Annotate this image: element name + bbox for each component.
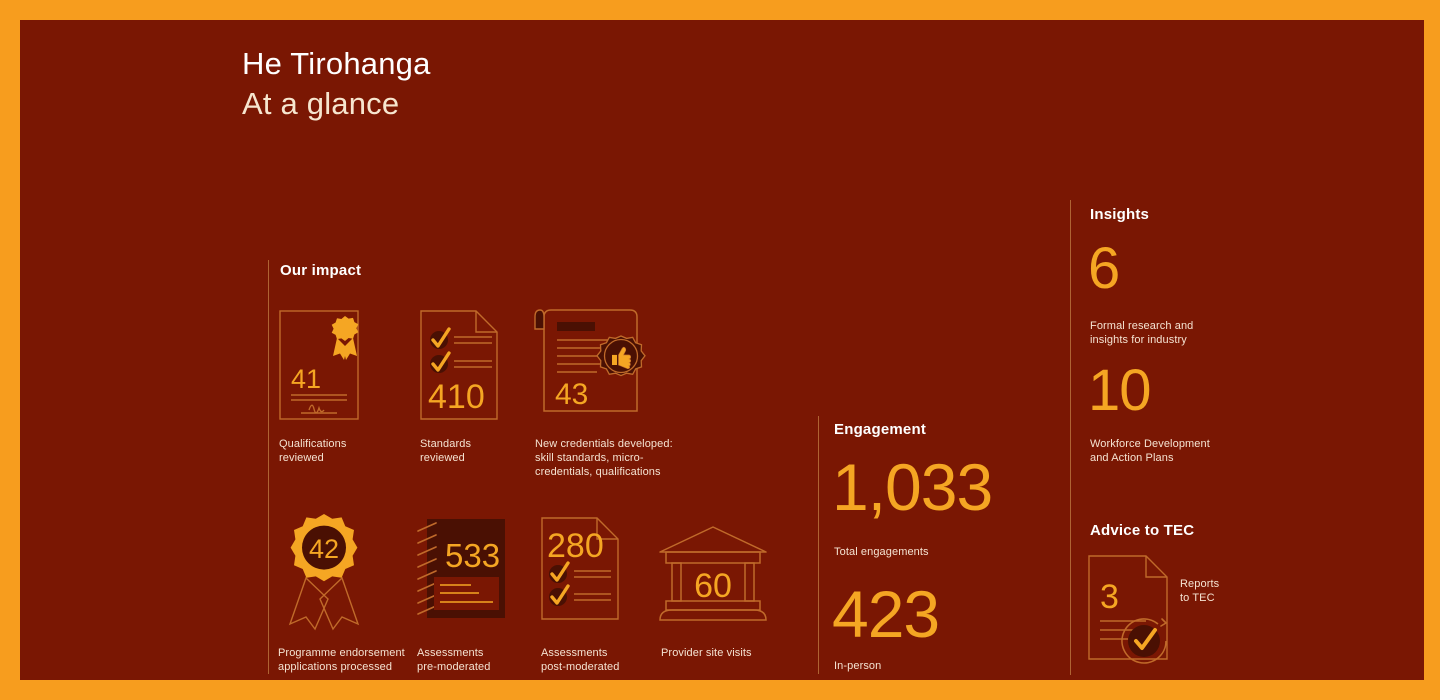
engagement-value-inperson: 423 [832, 585, 939, 644]
poster-frame: He Tirohanga At a glance Our impact 41 Q… [20, 20, 1424, 680]
insights-heading: Insights [1090, 206, 1149, 223]
insights-value-plans: 10 [1088, 365, 1151, 417]
impact-caption-premoderated: Assessments pre-moderated [417, 646, 490, 674]
impact-divider [268, 260, 269, 674]
impact-caption-site-visits: Provider site visits [661, 646, 752, 660]
advice-tile-reports: 3 [1088, 555, 1180, 667]
impact-tile-site-visits: 60 [654, 525, 772, 622]
award-ribbon-icon: 42 [278, 512, 374, 630]
impact-caption-qualifications: Qualifications reviewed [279, 437, 346, 465]
engagement-caption-inperson: In-person [834, 659, 881, 673]
svg-text:41: 41 [291, 364, 321, 394]
svg-text:3: 3 [1100, 578, 1119, 616]
advice-caption-reports: Reports to TEC [1180, 577, 1219, 605]
svg-text:42: 42 [309, 534, 339, 564]
impact-tile-qualifications: 41 [279, 310, 359, 420]
impact-caption-standards: Standards reviewed [420, 437, 471, 465]
impact-caption-credentials: New credentials developed: skill standar… [535, 437, 673, 479]
svg-text:60: 60 [694, 567, 732, 605]
page-title: He Tirohanga At a glance [242, 44, 431, 124]
svg-text:533: 533 [445, 537, 500, 574]
advice-heading: Advice to TEC [1090, 522, 1194, 539]
insights-divider [1070, 200, 1071, 675]
insights-value-research: 6 [1088, 243, 1119, 295]
impact-heading: Our impact [280, 262, 361, 279]
impact-tile-postmoderated: 280 [541, 517, 619, 620]
impact-tile-standards: 410 [420, 310, 498, 420]
spiral-notebook-icon: 533 [417, 517, 507, 620]
scroll-thumbsup-icon: 43 [535, 308, 655, 420]
engagement-divider [818, 416, 819, 674]
svg-text:280: 280 [547, 527, 604, 565]
impact-tile-premoderated: 533 [417, 517, 507, 620]
impact-caption-endorsement: Programme endorsement applications proce… [278, 646, 405, 674]
insights-caption-plans: Workforce Development and Action Plans [1090, 437, 1210, 465]
impact-tile-endorsement: 42 [278, 512, 374, 630]
svg-text:410: 410 [428, 378, 485, 416]
document-check-icon: 3 [1088, 555, 1180, 667]
document-checklist-icon: 410 [420, 310, 498, 420]
document-checklist-icon: 280 [541, 517, 619, 620]
impact-caption-postmoderated: Assessments post-moderated [541, 646, 619, 674]
engagement-caption-total: Total engagements [834, 545, 929, 559]
impact-tile-credentials: 43 [535, 308, 655, 420]
institution-building-icon: 60 [654, 525, 772, 622]
title-line-1: He Tirohanga [242, 44, 431, 84]
insights-caption-research: Formal research and insights for industr… [1090, 319, 1193, 347]
engagement-value-total: 1,033 [832, 458, 992, 517]
engagement-heading: Engagement [834, 421, 926, 438]
title-line-2: At a glance [242, 84, 431, 124]
svg-text:43: 43 [555, 378, 588, 411]
certificate-rosette-icon: 41 [279, 310, 359, 420]
